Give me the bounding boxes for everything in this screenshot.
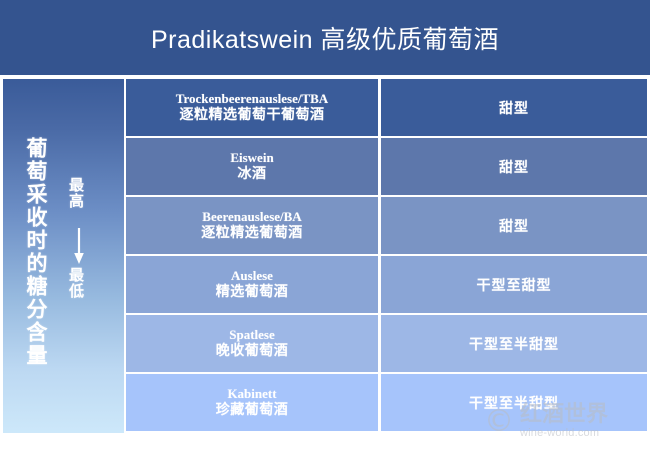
header-band: Pradikatswein 高级优质葡萄酒 — [0, 0, 650, 75]
wine-name-zh: 珍藏葡萄酒 — [216, 402, 289, 420]
watermark-brand: 红酒世界 — [520, 404, 608, 426]
wine-name-cell: Auslese 精选葡萄酒 — [126, 256, 378, 313]
page-title: Pradikatswein 高级优质葡萄酒 — [151, 20, 499, 56]
wine-style-label: 甜型 — [499, 157, 529, 177]
wine-style-cell: 干型至甜型 — [381, 256, 647, 313]
wine-name-cell: Eiswein 冰酒 — [126, 138, 378, 195]
watermark-url: wine-world.com — [520, 428, 608, 439]
wine-style-label: 干型至甜型 — [477, 275, 552, 295]
scale-low-label: 最低 — [68, 267, 83, 299]
wine-style-label: 甜型 — [499, 216, 529, 236]
wine-name-cell: Beerenauslese/BA 逐粒精选葡萄酒 — [126, 197, 378, 254]
arrow-down-icon — [72, 227, 86, 265]
pradikatswein-table: 葡萄采收时的糖分含量 最高 最低 Trockenbeerenauslese/TB… — [0, 77, 650, 435]
table-row: Auslese 精选葡萄酒 干型至甜型 — [126, 256, 647, 313]
wine-name-de: Spatlese — [229, 327, 275, 343]
watermark-texts: 红酒世界 wine-world.com — [520, 404, 608, 439]
wine-name-de: Kabinett — [227, 386, 276, 402]
wine-name-cell: Trockenbeerenauslese/TBA 逐粒精选葡萄干葡萄酒 — [126, 79, 378, 136]
wine-name-de: Beerenauslese/BA — [202, 209, 301, 225]
wine-name-zh: 逐粒精选葡萄干葡萄酒 — [180, 107, 325, 125]
table-row: Spatlese 晚收葡萄酒 干型至半甜型 — [126, 315, 647, 372]
watermark: © 红酒世界 wine-world.com — [484, 404, 608, 439]
slide-canvas: Pradikatswein 高级优质葡萄酒 葡萄采收时的糖分含量 最高 最低 T… — [0, 0, 650, 458]
sidebar-label: 葡萄采收时的糖分含量 — [25, 137, 46, 367]
wine-name-cell: Spatlese 晚收葡萄酒 — [126, 315, 378, 372]
scale-high-label: 最高 — [68, 177, 83, 209]
wine-name-zh: 冰酒 — [238, 166, 267, 184]
table-row: Trockenbeerenauslese/TBA 逐粒精选葡萄干葡萄酒 甜型 — [126, 79, 647, 136]
wine-style-label: 干型至半甜型 — [469, 334, 559, 354]
wine-style-label: 甜型 — [499, 98, 529, 118]
wine-name-de: Trockenbeerenauslese/TBA — [176, 91, 328, 107]
wine-name-zh: 晚收葡萄酒 — [216, 343, 289, 361]
wine-name-cell: Kabinett 珍藏葡萄酒 — [126, 374, 378, 431]
wine-name-zh: 精选葡萄酒 — [216, 284, 289, 302]
wine-style-cell: 甜型 — [381, 79, 647, 136]
table-row: Eiswein 冰酒 甜型 — [126, 138, 647, 195]
sugar-content-sidebar: 葡萄采收时的糖分含量 最高 最低 — [3, 79, 124, 433]
wine-name-zh: 逐粒精选葡萄酒 — [201, 225, 303, 243]
wine-name-de: Auslese — [231, 268, 273, 284]
wine-name-de: Eiswein — [230, 150, 273, 166]
wine-style-cell: 干型至半甜型 — [381, 315, 647, 372]
copyright-icon: © — [484, 407, 514, 437]
wine-style-cell: 甜型 — [381, 138, 647, 195]
wine-style-cell: 甜型 — [381, 197, 647, 254]
table-row: Beerenauslese/BA 逐粒精选葡萄酒 甜型 — [126, 197, 647, 254]
